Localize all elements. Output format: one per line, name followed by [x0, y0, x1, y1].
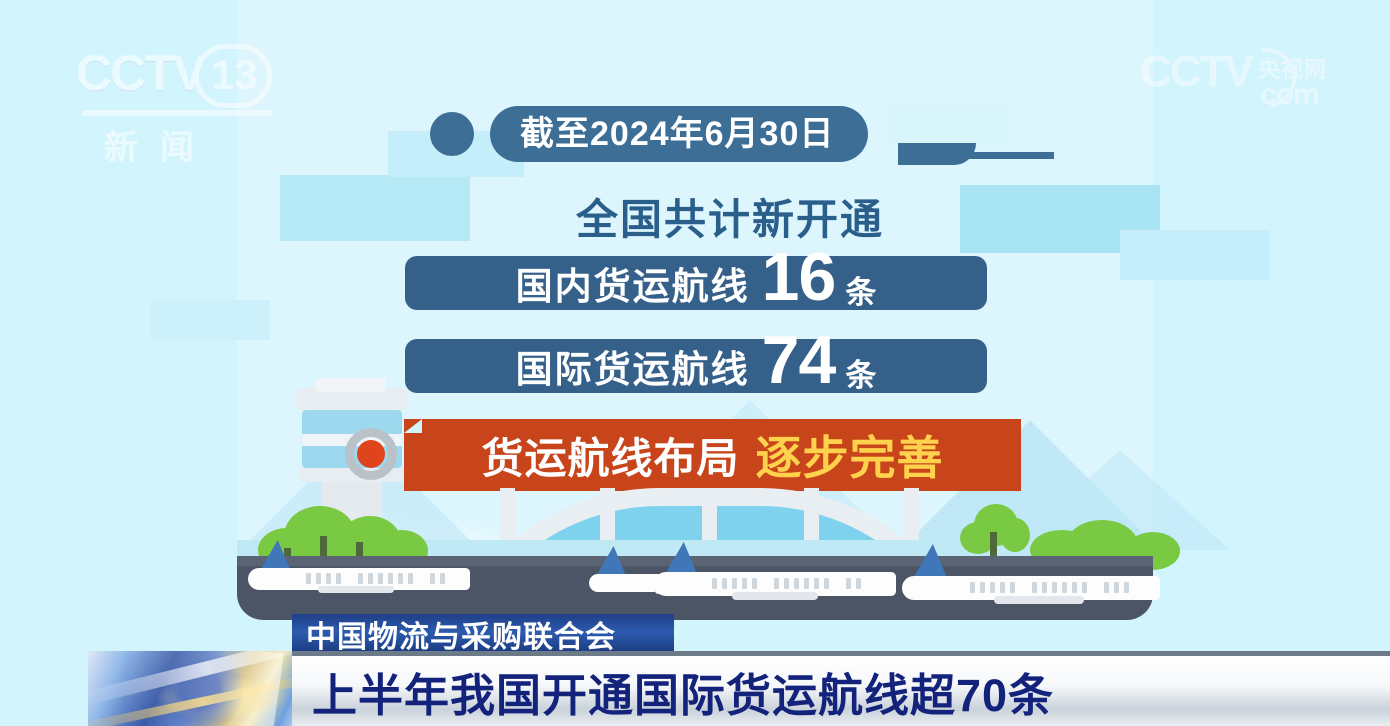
- radar-dot-icon: [357, 440, 385, 468]
- watermark-domain-label: com: [1260, 78, 1319, 112]
- stat-international-label: 国际货运航线: [516, 339, 750, 393]
- stat-domestic-unit: 条: [845, 267, 876, 312]
- cctv13-channel-logo: CCTV 13 新闻: [76, 48, 286, 144]
- stat-domestic-content: 国内货运航线 16 条: [405, 256, 987, 310]
- airplane-left: [240, 540, 470, 590]
- cctv-com-watermark: CCTV 央视网 com: [1140, 50, 1340, 112]
- infographic-subtitle-text: 全国共计新开通: [506, 186, 884, 247]
- stat-domestic-label: 国内货运航线: [516, 256, 750, 310]
- highlight-yellow-text: 逐步完善: [756, 422, 944, 488]
- date-banner-dot-icon: [430, 112, 474, 156]
- news-globe-graphic: [88, 651, 303, 726]
- channel-number: 13: [211, 54, 258, 96]
- cloud-shape: [150, 300, 270, 340]
- date-banner-text: 截至2024年6月30日: [520, 117, 834, 151]
- airplane-center-front: [648, 542, 898, 596]
- channel-sub-label: 新闻: [104, 120, 216, 169]
- stat-international-value: 74: [762, 333, 836, 387]
- stat-domestic-value: 16: [762, 250, 836, 304]
- cloud-shape: [888, 105, 1008, 145]
- date-banner-pill: 截至2024年6月30日: [490, 106, 868, 162]
- highlight-white-text: 货运航线布局: [481, 425, 739, 486]
- stat-international-unit: 条: [845, 350, 876, 395]
- headline-text: 上半年我国开通国际货运航线超70条: [312, 659, 1054, 724]
- broadcast-screen: CCTV 13 新闻 CCTV 央视网 com 截至2024年6月30日 全国共…: [0, 0, 1390, 726]
- source-organization-text: 中国物流与采购联合会: [306, 612, 616, 656]
- highlight-banner-content: 货运航线布局 逐步完善: [404, 419, 1021, 491]
- logo-underline: [82, 110, 272, 116]
- source-organization-bar: 中国物流与采购联合会: [292, 614, 674, 654]
- stat-international-content: 国际货运航线 74 条: [405, 339, 987, 393]
- infographic-subtitle: 全国共计新开通: [0, 186, 1390, 247]
- decorative-dash: [928, 152, 950, 159]
- decorative-dash: [958, 152, 1054, 159]
- airplane-right: [898, 544, 1166, 600]
- date-banner: 截至2024年6月30日: [430, 105, 868, 163]
- headline-bar: 上半年我国开通国际货运航线超70条: [292, 656, 1390, 726]
